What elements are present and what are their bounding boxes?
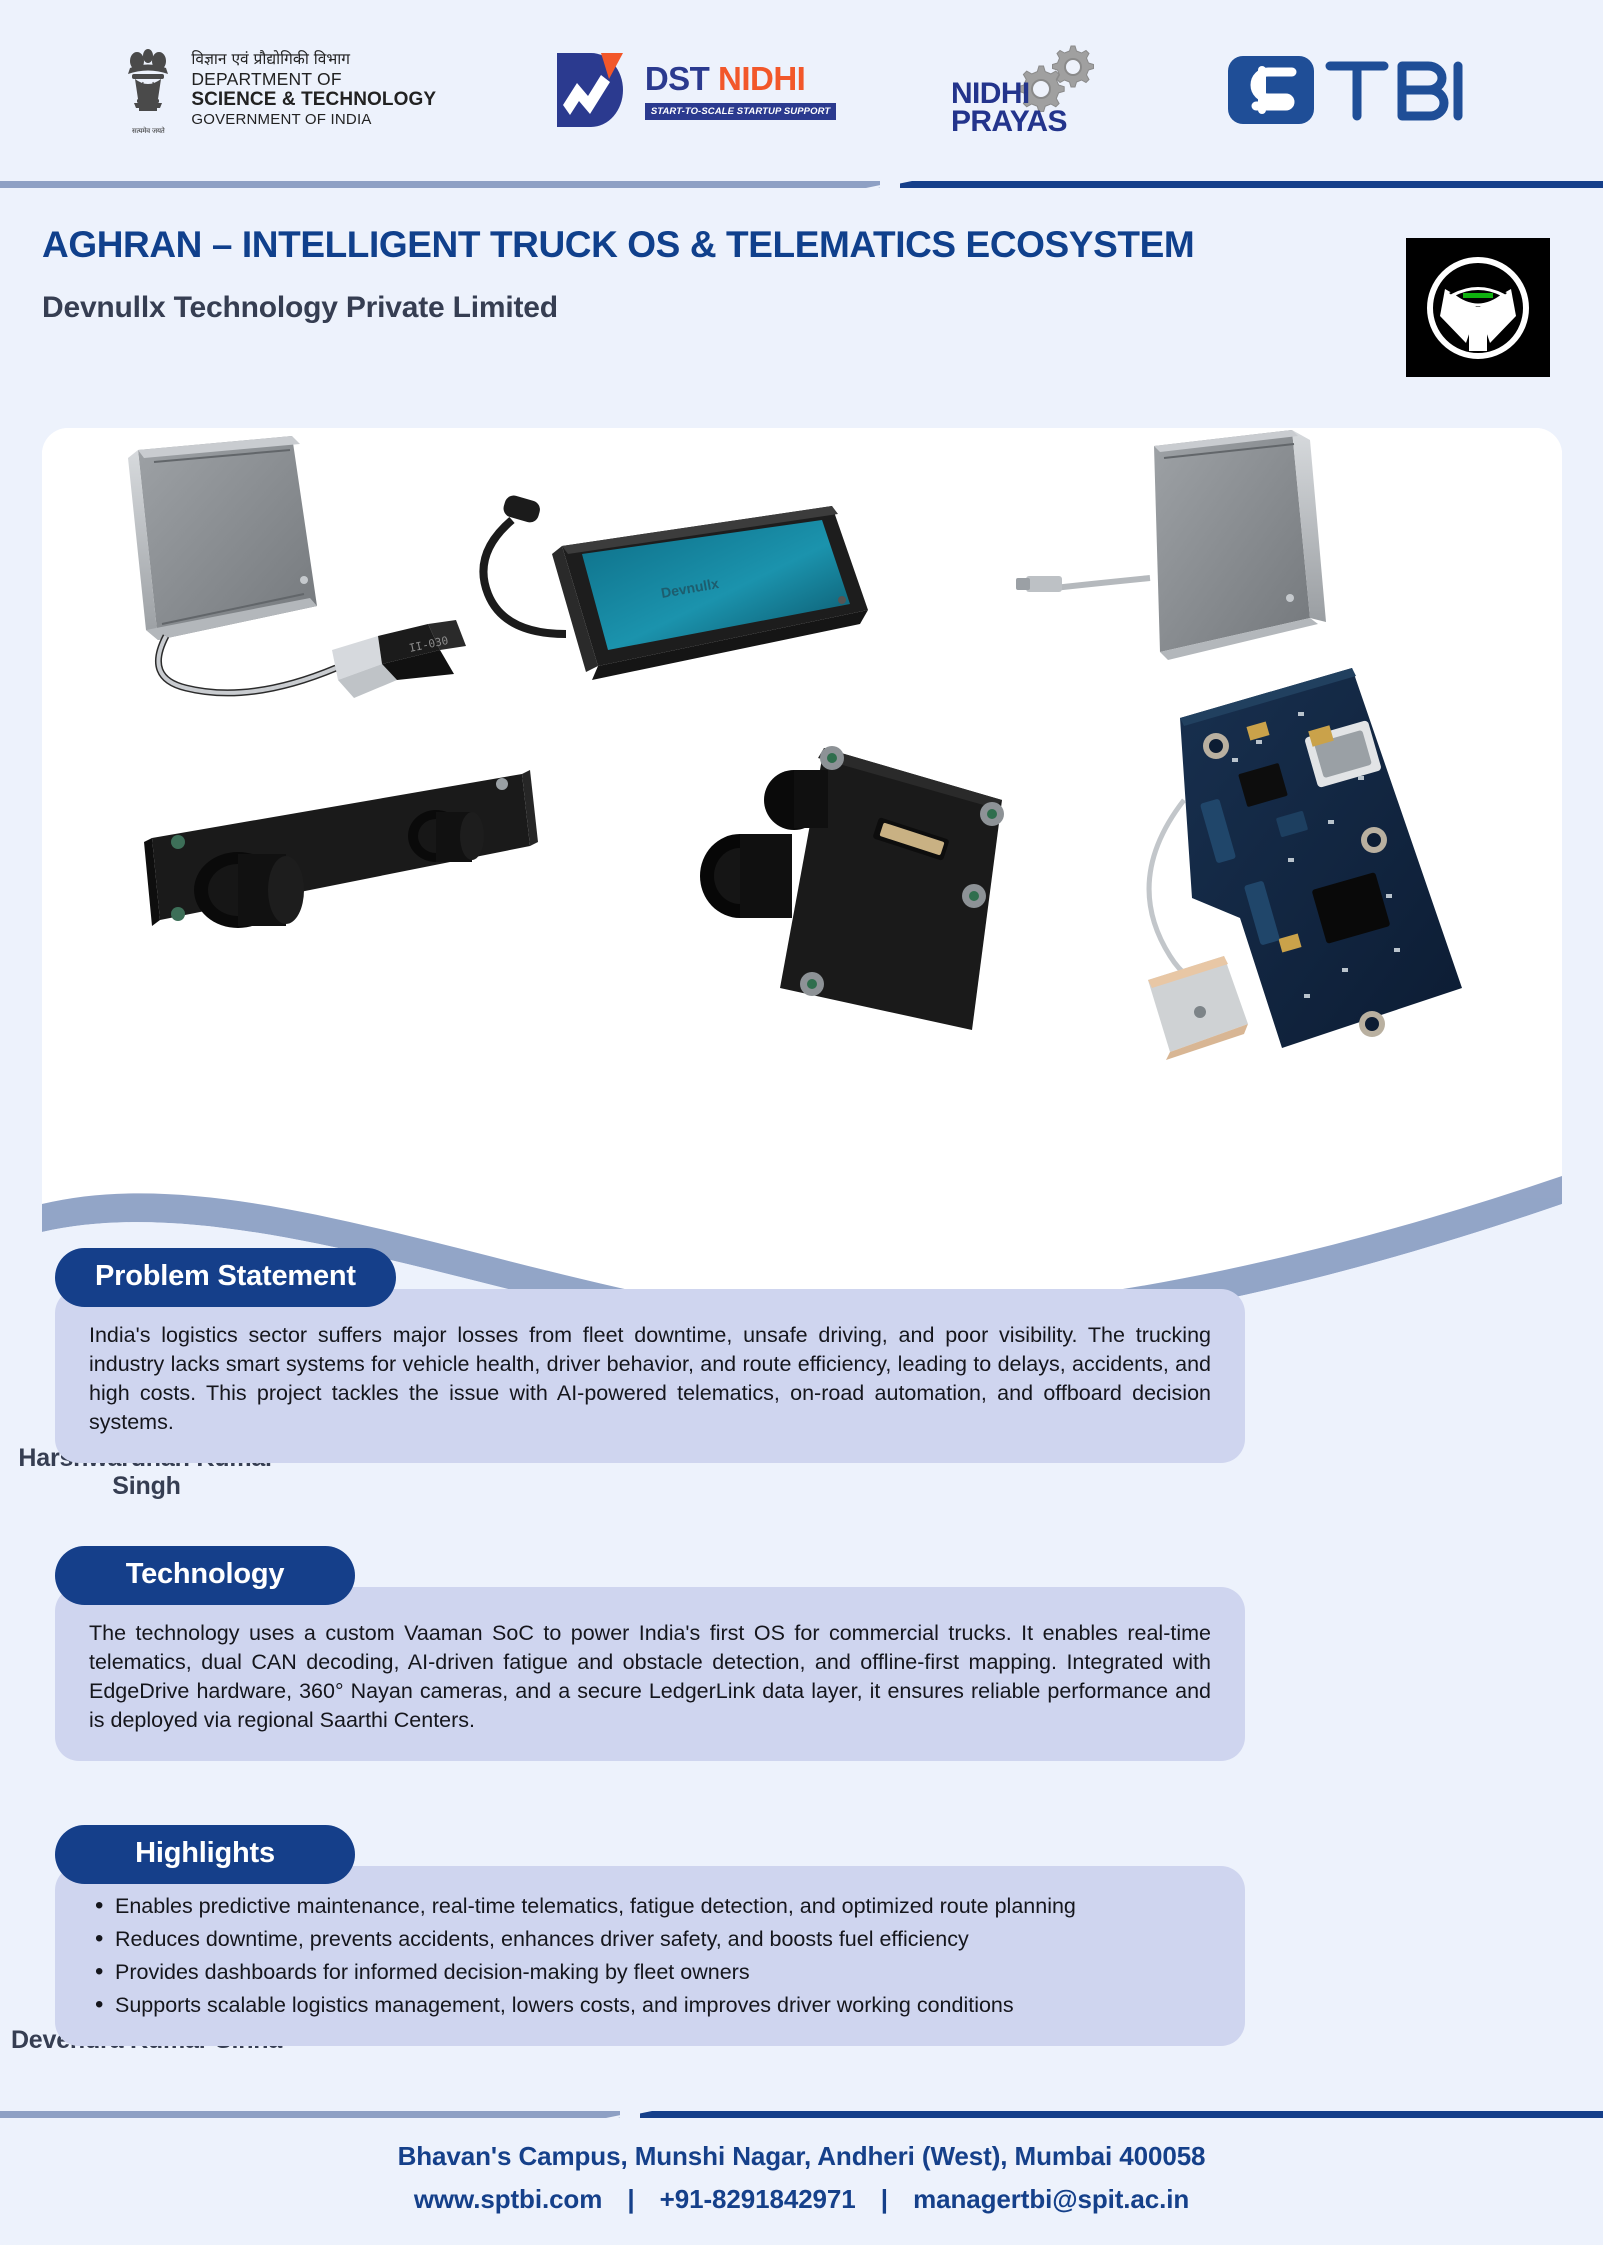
dst-nidhi-mark-icon	[551, 49, 635, 131]
logo-sptbi	[1226, 50, 1486, 130]
highlights-list: Enables predictive maintenance, real-tim…	[85, 1892, 1211, 2020]
logo-dst-government-of-india: सत्यमेव जयते विज्ञान एवं प्रौद्योगिकी वि…	[117, 44, 436, 136]
dst-nidhi-word-dst: DST	[645, 60, 710, 97]
problem-statement-heading: Problem Statement	[55, 1248, 396, 1307]
footer-contact-line: www.sptbi.com | +91-8291842971 | manager…	[0, 2184, 1603, 2215]
footer-separator: |	[609, 2184, 652, 2215]
technology-heading: Technology	[55, 1546, 355, 1605]
partner-logo-bar: सत्यमेव जयते विज्ञान एवं प्रौद्योगिकी वि…	[0, 0, 1603, 180]
logo-dst-nidhi: DST NIDHI START-TO-SCALE STARTUP SUPPORT	[551, 49, 836, 131]
steering-wheel-icon	[1419, 249, 1537, 367]
highlights-body: Enables predictive maintenance, real-tim…	[55, 1866, 1245, 2046]
technology-text: The technology uses a custom Vaaman SoC …	[55, 1587, 1245, 1761]
emblem-motto-text: सत्यमेव जयते	[132, 127, 165, 136]
footer-divider	[0, 2110, 1603, 2119]
dst-nidhi-word-nidhi: NIDHI	[718, 60, 805, 97]
footer-address: Bhavan's Campus, Munshi Nagar, Andheri (…	[0, 2141, 1603, 2172]
footer-website[interactable]: www.sptbi.com	[414, 2184, 602, 2214]
dst-nidhi-tagline: START-TO-SCALE STARTUP SUPPORT	[645, 103, 836, 120]
footer-separator: |	[863, 2184, 906, 2215]
highlights-heading: Highlights	[55, 1825, 355, 1884]
section-technology: Technology The technology uses a custom …	[55, 1546, 1245, 1761]
product-photos: II-030 Devnullx	[42, 428, 1562, 1198]
nidhi-prayas-line1: NIDHI	[951, 80, 1067, 108]
list-item: Enables predictive maintenance, real-tim…	[85, 1892, 1211, 1921]
product-image-panel: II-030 Devnullx	[42, 428, 1562, 1198]
dst-hindi-label: विज्ञान एवं प्रौद्योगिकी विभाग	[191, 51, 436, 69]
dst-line3: GOVERNMENT OF INDIA	[191, 111, 436, 128]
title-block: AGHRAN – INTELLIGENT TRUCK OS & TELEMATI…	[42, 225, 1342, 325]
section-highlights: Highlights Enables predictive maintenanc…	[55, 1825, 1245, 2046]
project-title: AGHRAN – INTELLIGENT TRUCK OS & TELEMATI…	[42, 225, 1342, 266]
footer-phone[interactable]: +91-8291842971	[660, 2184, 856, 2214]
list-item: Reduces downtime, prevents accidents, en…	[85, 1925, 1211, 1954]
poster-root: सत्यमेव जयते विज्ञान एवं प्रौद्योगिकी वि…	[0, 0, 1603, 2245]
nidhi-prayas-line2: PRAYAS	[951, 108, 1067, 136]
company-name: Devnullx Technology Private Limited	[42, 291, 1342, 325]
list-item: Supports scalable logistics management, …	[85, 1991, 1211, 2020]
dst-line1: DEPARTMENT OF	[191, 69, 436, 89]
section-problem-statement: Problem Statement India's logistics sect…	[55, 1248, 1245, 1463]
list-item: Provides dashboards for informed decisio…	[85, 1958, 1211, 1987]
ashoka-emblem-icon: सत्यमेव जयते	[117, 44, 179, 136]
sptbi-mark-icon	[1226, 50, 1486, 130]
problem-statement-text: India's logistics sector suffers major l…	[55, 1289, 1245, 1463]
dst-line2: SCIENCE & TECHNOLOGY	[191, 89, 436, 111]
logo-nidhi-prayas: NIDHI PRAYAS	[951, 42, 1111, 138]
footer-email[interactable]: managertbi@spit.ac.in	[913, 2184, 1189, 2214]
company-logo	[1406, 238, 1550, 377]
header-divider	[0, 180, 1603, 189]
footer: Bhavan's Campus, Munshi Nagar, Andheri (…	[0, 2141, 1603, 2215]
